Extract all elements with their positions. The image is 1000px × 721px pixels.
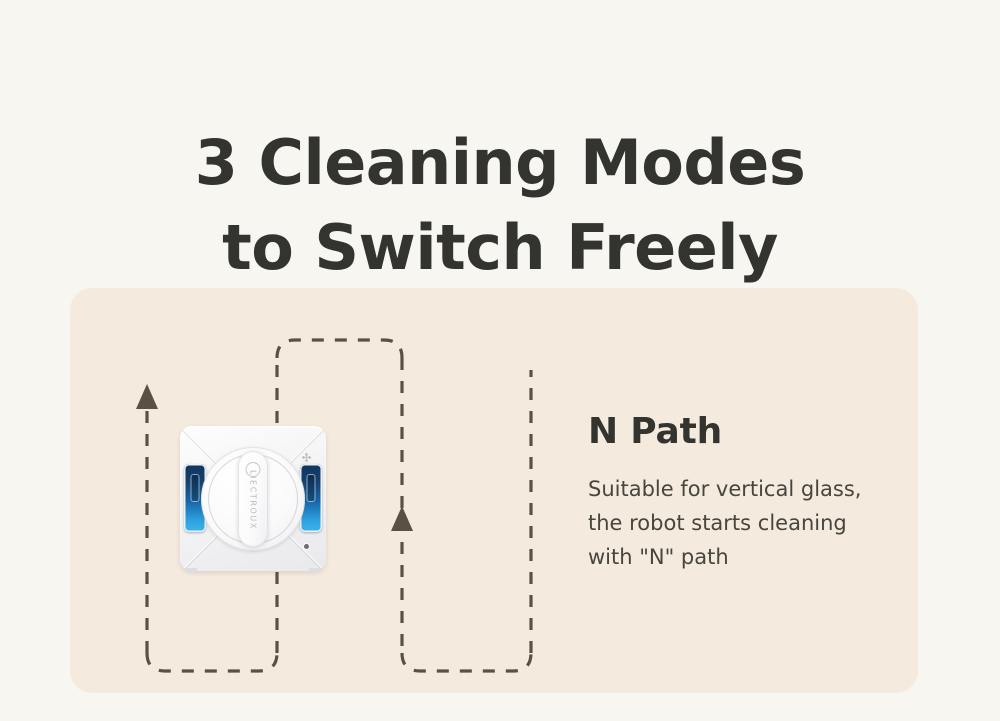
sensor-dot-icon (304, 544, 309, 549)
window-cleaning-robot: LIECTROUX (180, 426, 326, 571)
path-arrow-middle (391, 506, 413, 531)
mode-description-line-3: with "N" path (588, 540, 918, 574)
robot-brand-label: LIECTROUX (249, 470, 258, 530)
path-segment-bottom-u-right (402, 653, 531, 671)
path-arrow-left (136, 384, 158, 409)
robot-foot-left (185, 568, 197, 573)
cleaning-mode-card: LIECTROUX N Path Suitable for vertical g… (70, 288, 918, 693)
page-title-line-1: 3 Cleaning Modes (0, 120, 1000, 206)
page-title-line-2: to Switch Freely (0, 205, 1000, 291)
path-segment-top-u (277, 340, 402, 358)
mode-description-line-2: the robot starts cleaning (588, 506, 918, 540)
mode-description-line-1: Suitable for vertical glass, (588, 472, 918, 506)
robot-handle: LIECTROUX (238, 451, 268, 547)
mode-title: N Path (588, 412, 918, 452)
mode-text-block: N Path Suitable for vertical glass, the … (588, 412, 918, 574)
robot-foot-right (309, 568, 321, 573)
mode-description: Suitable for vertical glass, the robot s… (588, 472, 918, 574)
fan-icon (301, 452, 312, 463)
path-segment-bottom-u-left (147, 653, 277, 671)
page-title: 3 Cleaning Modes to Switch Freely (0, 120, 1000, 291)
